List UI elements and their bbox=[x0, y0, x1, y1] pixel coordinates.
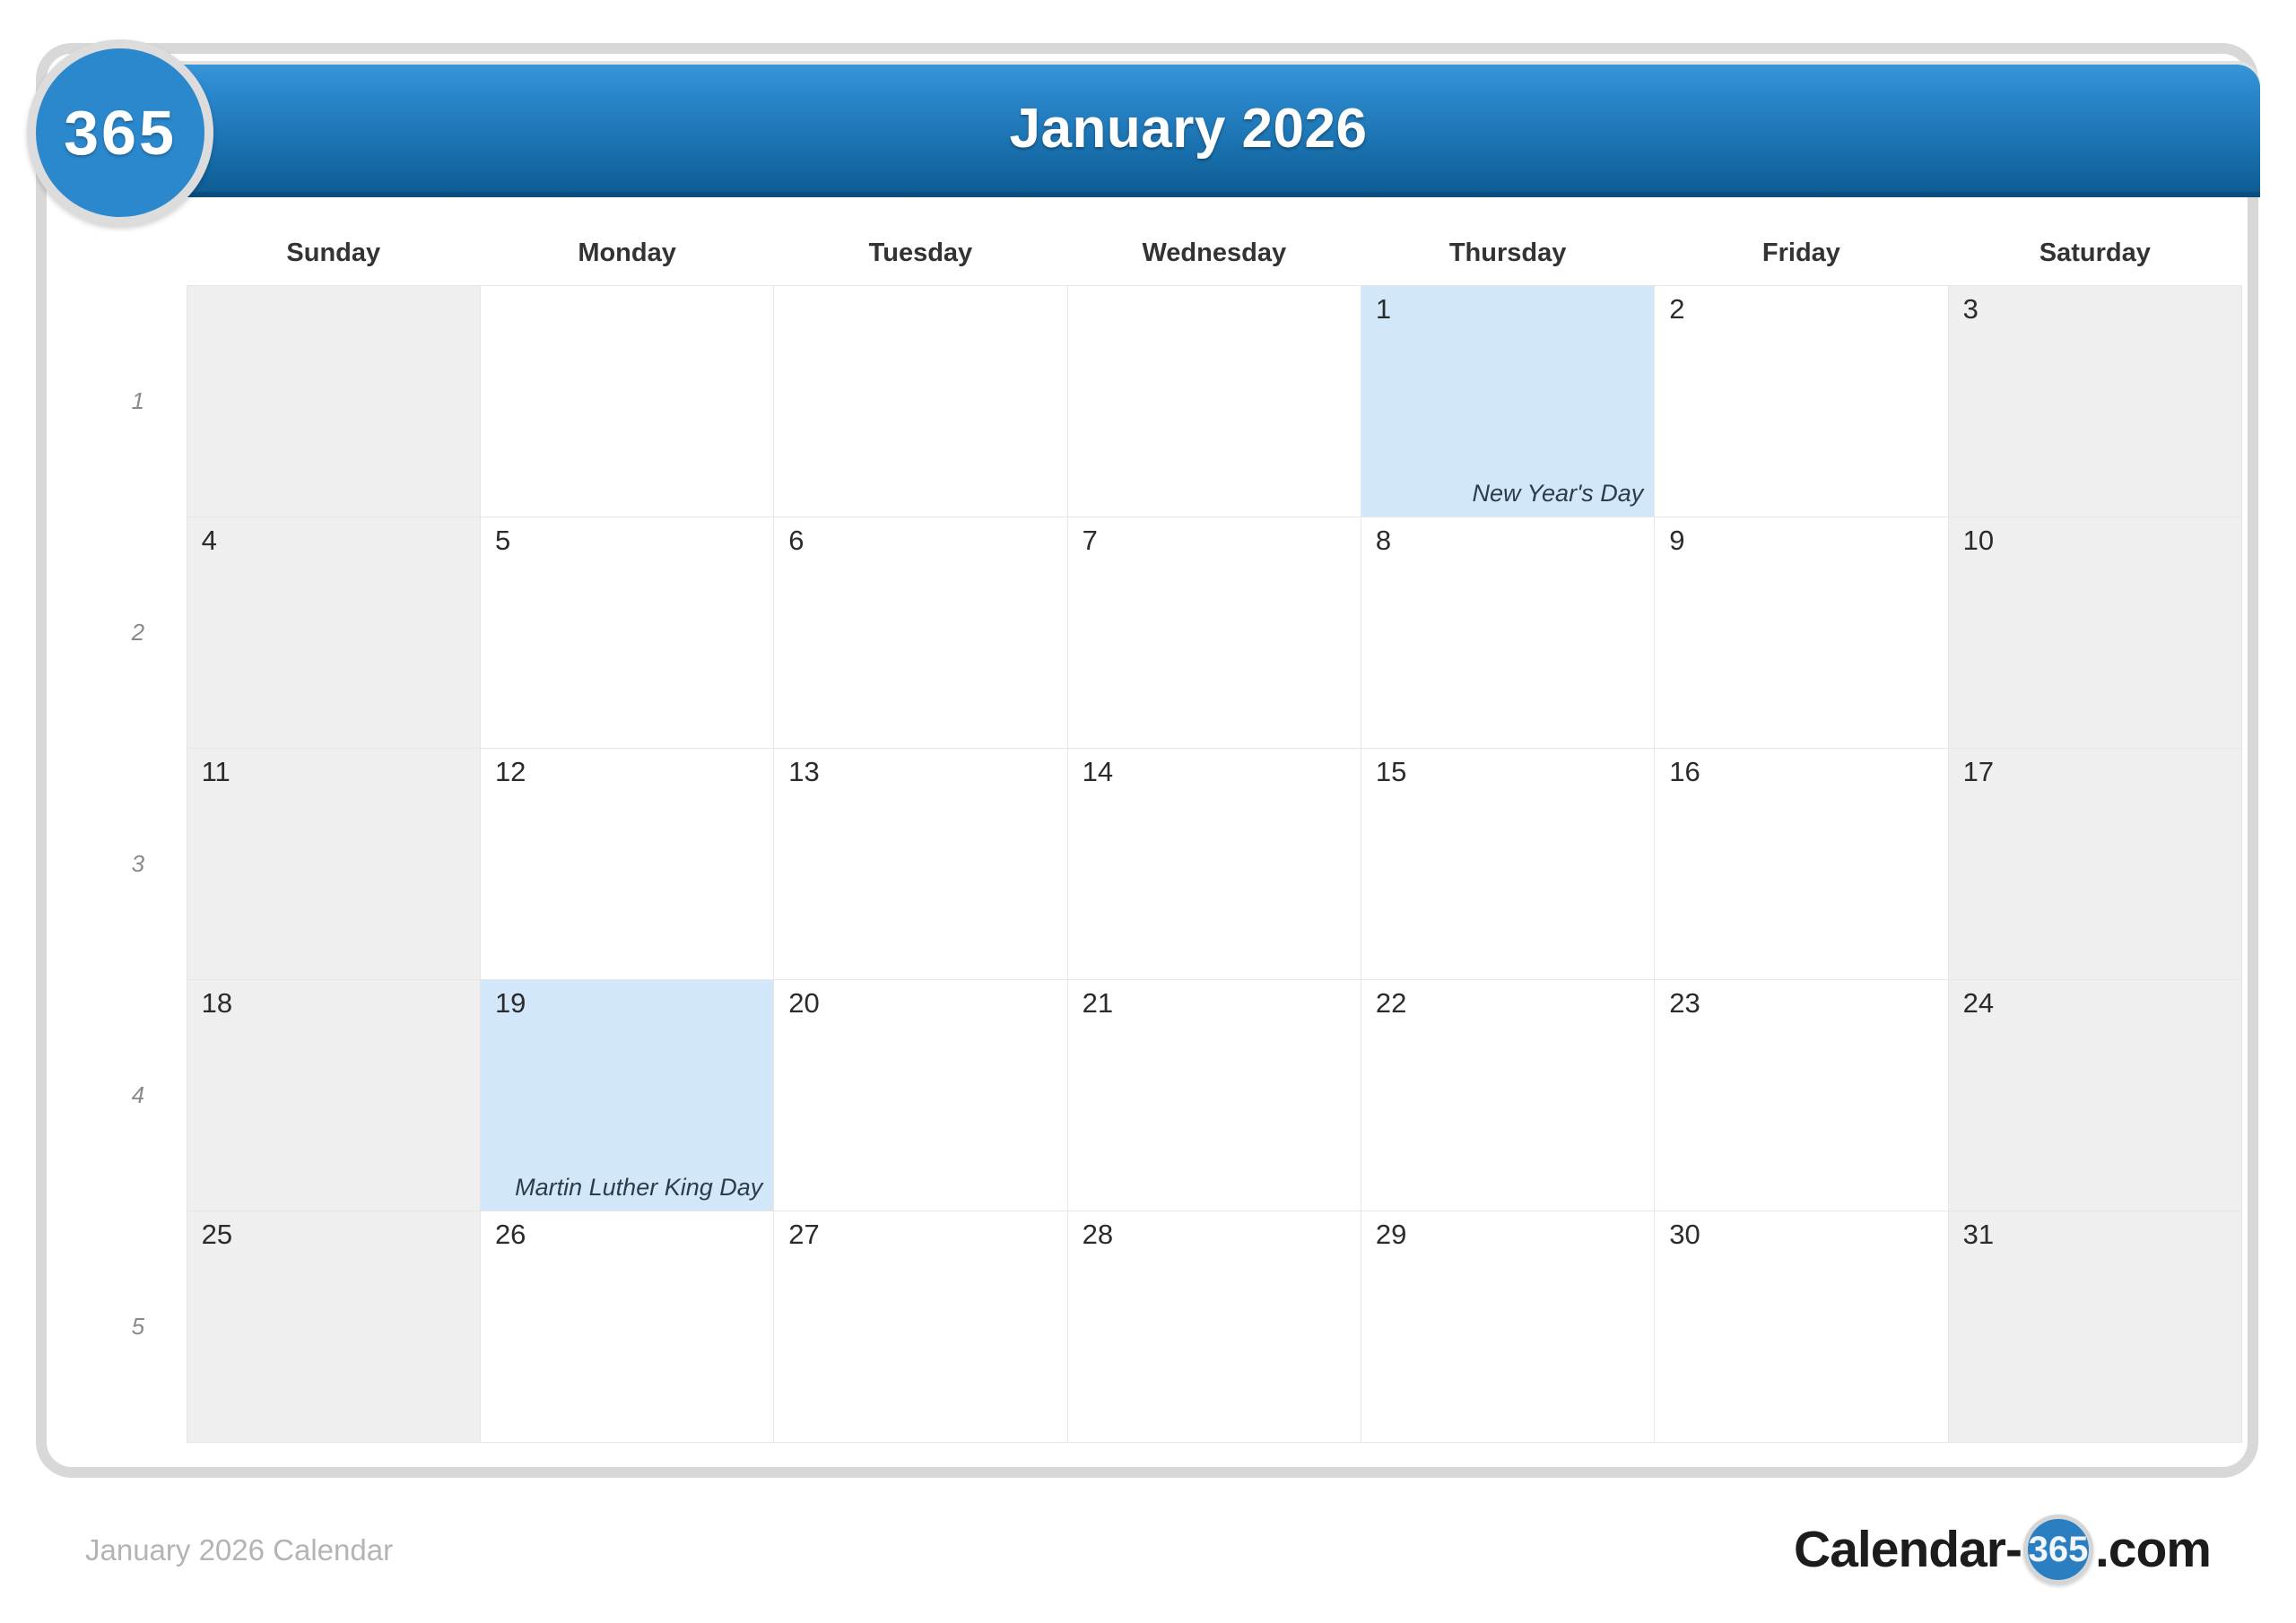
brand-365-badge: 365 bbox=[27, 39, 213, 226]
calendar-empty-cell bbox=[1067, 285, 1361, 516]
calendar-day-cell[interactable]: 6 bbox=[774, 516, 1067, 748]
calendar-day-cell[interactable]: 11 bbox=[187, 748, 480, 979]
calendar-week-row: 41819Martin Luther King Day2021222324 bbox=[90, 979, 2242, 1211]
week-number-cell: 2 bbox=[90, 516, 187, 748]
brand-365-badge-label: 365 bbox=[64, 97, 177, 169]
calendar-day-cell[interactable]: 26 bbox=[480, 1211, 773, 1442]
day-number: 31 bbox=[1963, 1220, 1994, 1248]
day-number: 22 bbox=[1376, 989, 1406, 1017]
calendar-day-cell[interactable]: 14 bbox=[1067, 748, 1361, 979]
calendar-day-cell[interactable]: 18 bbox=[187, 979, 480, 1211]
calendar-week-row: 311121314151617 bbox=[90, 748, 2242, 979]
week-number-cell: 4 bbox=[90, 979, 187, 1211]
calendar-day-cell[interactable]: 9 bbox=[1655, 516, 1948, 748]
calendar-week-row: 245678910 bbox=[90, 516, 2242, 748]
day-number: 6 bbox=[788, 526, 804, 554]
day-number: 27 bbox=[788, 1220, 819, 1248]
weekday-header-friday: Friday bbox=[1655, 233, 1948, 285]
day-number: 15 bbox=[1376, 758, 1406, 785]
logo-365-circle-icon: 365 bbox=[2023, 1515, 2093, 1584]
day-number: 8 bbox=[1376, 526, 1391, 554]
week-number-cell: 3 bbox=[90, 748, 187, 979]
weekday-header-thursday: Thursday bbox=[1361, 233, 1654, 285]
calendar-day-cell[interactable]: 19Martin Luther King Day bbox=[480, 979, 773, 1211]
day-number: 21 bbox=[1083, 989, 1113, 1017]
logo-suffix-text: .com bbox=[2095, 1520, 2211, 1579]
month-title-bar: January 2026 bbox=[170, 65, 2260, 197]
day-number: 16 bbox=[1669, 758, 1700, 785]
day-number: 18 bbox=[202, 989, 232, 1017]
calendar-day-cell[interactable]: 24 bbox=[1948, 979, 2241, 1211]
calendar-365-logo[interactable]: Calendar- 365 .com bbox=[1794, 1517, 2211, 1582]
day-number: 28 bbox=[1083, 1220, 1113, 1248]
calendar-day-cell[interactable]: 31 bbox=[1948, 1211, 2241, 1442]
logo-365-circle-label: 365 bbox=[2029, 1530, 2089, 1570]
calendar-page: January 2026 365 365 Sunday Monday Tuesd… bbox=[0, 0, 2296, 1623]
calendar-day-cell[interactable]: 16 bbox=[1655, 748, 1948, 979]
day-number: 2 bbox=[1669, 295, 1684, 323]
calendar-week-row: 525262728293031 bbox=[90, 1211, 2242, 1442]
weekday-header-row: Sunday Monday Tuesday Wednesday Thursday… bbox=[90, 233, 2242, 285]
day-number: 20 bbox=[788, 989, 819, 1017]
weekday-header-saturday: Saturday bbox=[1948, 233, 2241, 285]
holiday-label: New Year's Day bbox=[1473, 480, 1644, 508]
weekday-header-sunday: Sunday bbox=[187, 233, 480, 285]
calendar-day-cell[interactable]: 5 bbox=[480, 516, 773, 748]
calendar-day-cell[interactable]: 12 bbox=[480, 748, 773, 979]
holiday-label: Martin Luther King Day bbox=[515, 1174, 762, 1202]
week-number-header bbox=[90, 233, 187, 285]
day-number: 25 bbox=[202, 1220, 232, 1248]
calendar-day-cell[interactable]: 30 bbox=[1655, 1211, 1948, 1442]
calendar-day-cell[interactable]: 13 bbox=[774, 748, 1067, 979]
day-number: 19 bbox=[495, 989, 526, 1017]
day-number: 24 bbox=[1963, 989, 1994, 1017]
day-number: 29 bbox=[1376, 1220, 1406, 1248]
day-number: 7 bbox=[1083, 526, 1098, 554]
day-number: 13 bbox=[788, 758, 819, 785]
day-number: 17 bbox=[1963, 758, 1994, 785]
page-title: January 2026 bbox=[1010, 97, 1422, 161]
day-number: 9 bbox=[1669, 526, 1684, 554]
day-number: 12 bbox=[495, 758, 526, 785]
day-number: 11 bbox=[202, 758, 230, 785]
calendar-day-cell[interactable]: 23 bbox=[1655, 979, 1948, 1211]
weekday-header-wednesday: Wednesday bbox=[1067, 233, 1361, 285]
day-number: 23 bbox=[1669, 989, 1700, 1017]
footer-caption: January 2026 Calendar bbox=[85, 1533, 393, 1567]
calendar-day-cell[interactable]: 2 bbox=[1655, 285, 1948, 516]
day-number: 5 bbox=[495, 526, 510, 554]
logo-prefix-text: Calendar- bbox=[1794, 1520, 2022, 1579]
weekday-header-tuesday: Tuesday bbox=[774, 233, 1067, 285]
calendar-day-cell[interactable]: 29 bbox=[1361, 1211, 1654, 1442]
day-number: 4 bbox=[202, 526, 217, 554]
day-number: 26 bbox=[495, 1220, 526, 1248]
calendar-day-cell[interactable]: 3 bbox=[1948, 285, 2241, 516]
calendar-empty-cell bbox=[187, 285, 480, 516]
day-number: 3 bbox=[1963, 295, 1979, 323]
calendar-day-cell[interactable]: 1New Year's Day bbox=[1361, 285, 1654, 516]
calendar-day-cell[interactable]: 15 bbox=[1361, 748, 1654, 979]
calendar-table: Sunday Monday Tuesday Wednesday Thursday… bbox=[90, 233, 2242, 1443]
calendar-day-cell[interactable]: 8 bbox=[1361, 516, 1654, 748]
calendar-day-cell[interactable]: 20 bbox=[774, 979, 1067, 1211]
day-number: 14 bbox=[1083, 758, 1113, 785]
day-number: 10 bbox=[1963, 526, 1994, 554]
calendar-empty-cell bbox=[480, 285, 773, 516]
calendar-day-cell[interactable]: 4 bbox=[187, 516, 480, 748]
weekday-header-monday: Monday bbox=[480, 233, 773, 285]
calendar-grid-container: 365 Sunday Monday Tuesday Wednesday Thur… bbox=[90, 233, 2242, 1453]
calendar-body: 11New Year's Day232456789103111213141516… bbox=[90, 285, 2242, 1442]
calendar-day-cell[interactable]: 27 bbox=[774, 1211, 1067, 1442]
calendar-day-cell[interactable]: 25 bbox=[187, 1211, 480, 1442]
calendar-empty-cell bbox=[774, 285, 1067, 516]
calendar-day-cell[interactable]: 21 bbox=[1067, 979, 1361, 1211]
calendar-week-row: 11New Year's Day23 bbox=[90, 285, 2242, 516]
calendar-day-cell[interactable]: 17 bbox=[1948, 748, 2241, 979]
week-number-cell: 5 bbox=[90, 1211, 187, 1442]
week-number-cell: 1 bbox=[90, 285, 187, 516]
calendar-day-cell[interactable]: 22 bbox=[1361, 979, 1654, 1211]
calendar-day-cell[interactable]: 10 bbox=[1948, 516, 2241, 748]
calendar-day-cell[interactable]: 28 bbox=[1067, 1211, 1361, 1442]
day-number: 1 bbox=[1376, 295, 1391, 323]
calendar-day-cell[interactable]: 7 bbox=[1067, 516, 1361, 748]
day-number: 30 bbox=[1669, 1220, 1700, 1248]
